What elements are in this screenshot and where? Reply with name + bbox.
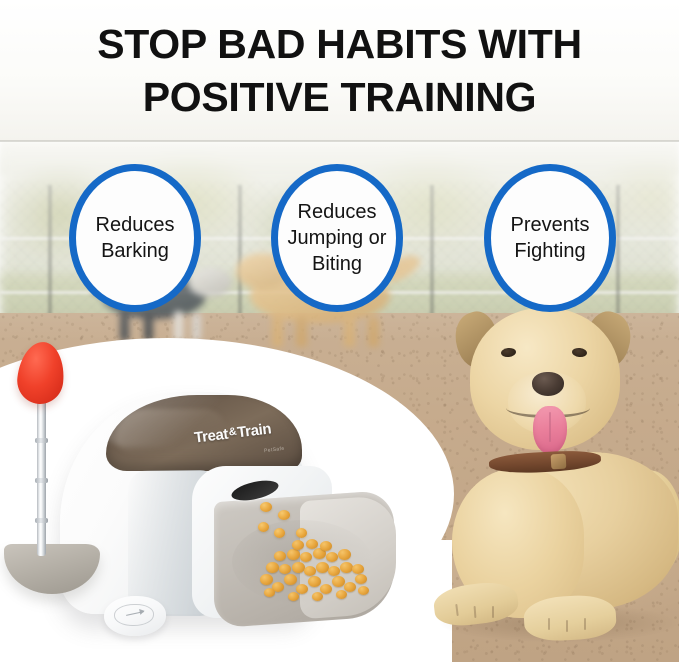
benefit-badge-label: Reduces Barking [90, 212, 181, 264]
target-stick-rod [37, 396, 46, 556]
falling-treat [258, 522, 269, 532]
dog-tongue-crease [549, 412, 551, 442]
brand-sublabel: PetSafe [264, 446, 285, 454]
dog-toe [584, 618, 586, 630]
headline-line-1: STOP BAD HABITS WITH [97, 18, 582, 70]
target-stick-joint [35, 438, 48, 443]
dog-toe [566, 620, 568, 632]
treat-hopper: Treat&Train PetSafe [106, 395, 302, 471]
brand-logo-train: Train [236, 420, 272, 441]
target-stick-joint [35, 518, 48, 523]
dog-collar-buckle [551, 454, 567, 470]
benefit-badge-prevents-fighting: Prevents Fighting [484, 164, 616, 312]
benefit-badge-reduces-jumping: Reduces Jumping or Biting [271, 164, 403, 312]
falling-treat [296, 528, 307, 538]
falling-treat [278, 510, 290, 520]
benefit-badge-reduces-barking: Reduces Barking [69, 164, 201, 312]
headline-banner: STOP BAD HABITS WITH POSITIVE TRAINING [0, 0, 679, 141]
target-stick-joint [35, 478, 48, 483]
headline-line-2: POSITIVE TRAINING [143, 71, 537, 123]
dog-toe [548, 618, 550, 630]
remote-button[interactable] [114, 604, 154, 626]
benefit-badge-label: Prevents Fighting [505, 212, 596, 264]
benefit-badge-label: Reduces Jumping or Biting [282, 199, 393, 277]
product-banner: Treat&Train PetSafe [0, 0, 679, 662]
falling-treat [260, 502, 272, 512]
dog-nose [532, 372, 564, 396]
falling-treat [274, 528, 285, 538]
header-divider [0, 140, 679, 142]
treat-pile [258, 540, 370, 606]
remote-control[interactable] [104, 596, 166, 636]
dog-toe [492, 606, 494, 618]
